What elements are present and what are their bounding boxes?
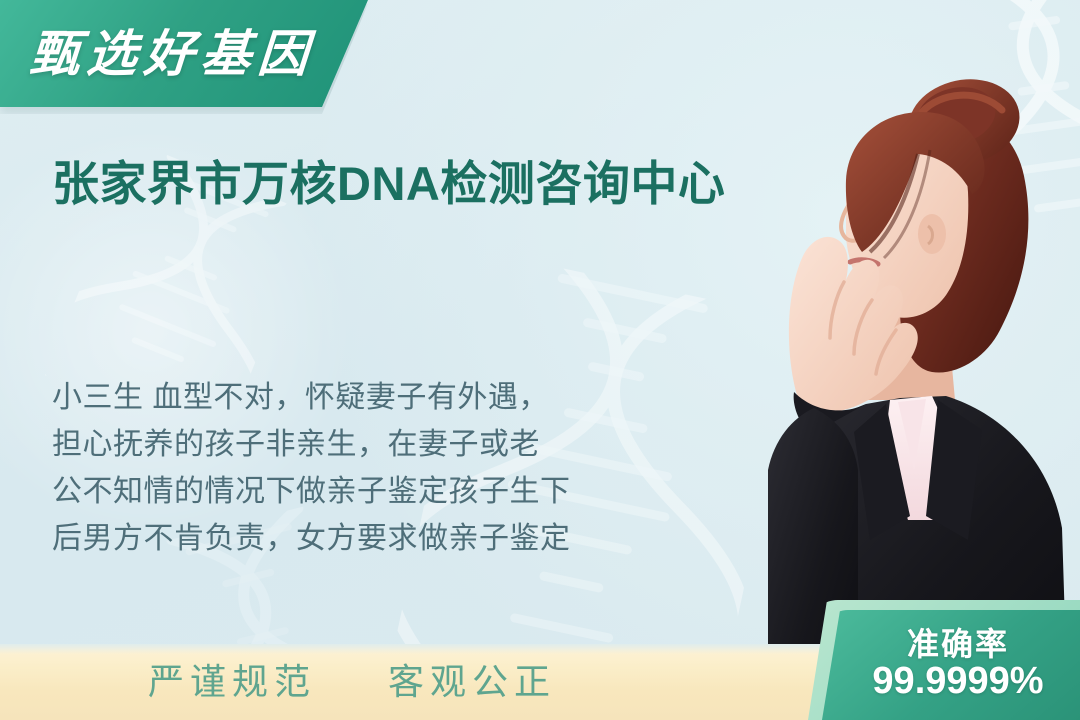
accuracy-badge: 准确率 99.9999% xyxy=(802,598,1080,720)
slogan-row: 严谨规范 客观公正 xyxy=(148,644,556,720)
slogan-item: 严谨规范 xyxy=(148,664,316,700)
slogan-item: 客观公正 xyxy=(388,664,556,700)
brand-ribbon: 甄选好基因 xyxy=(0,0,368,107)
description-line: 担心抚养的孩子非亲生，在妻子或老 xyxy=(52,421,571,468)
description-line: 小三生 血型不对，怀疑妻子有外遇， xyxy=(52,374,571,421)
accuracy-label: 准确率 xyxy=(907,627,1009,662)
description-line: 公不知情的情况下做亲子鉴定孩子生下 xyxy=(52,468,571,515)
accuracy-value: 99.9999% xyxy=(872,661,1043,703)
poster-canvas: 甄选好基因 张家界市万核DNA检测咨询中心 小三生 血型不对，怀疑妻子有外遇， … xyxy=(0,0,1080,720)
page-title: 张家界市万核DNA检测咨询中心 xyxy=(52,158,725,211)
description-line: 后男方不肯负责，女方要求做亲子鉴定 xyxy=(52,515,571,562)
accuracy-badge-panel: 准确率 99.9999% xyxy=(822,610,1080,720)
brand-slogan: 甄选好基因 xyxy=(28,29,316,79)
description-block: 小三生 血型不对，怀疑妻子有外遇， 担心抚养的孩子非亲生，在妻子或老 公不知情的… xyxy=(52,374,571,562)
